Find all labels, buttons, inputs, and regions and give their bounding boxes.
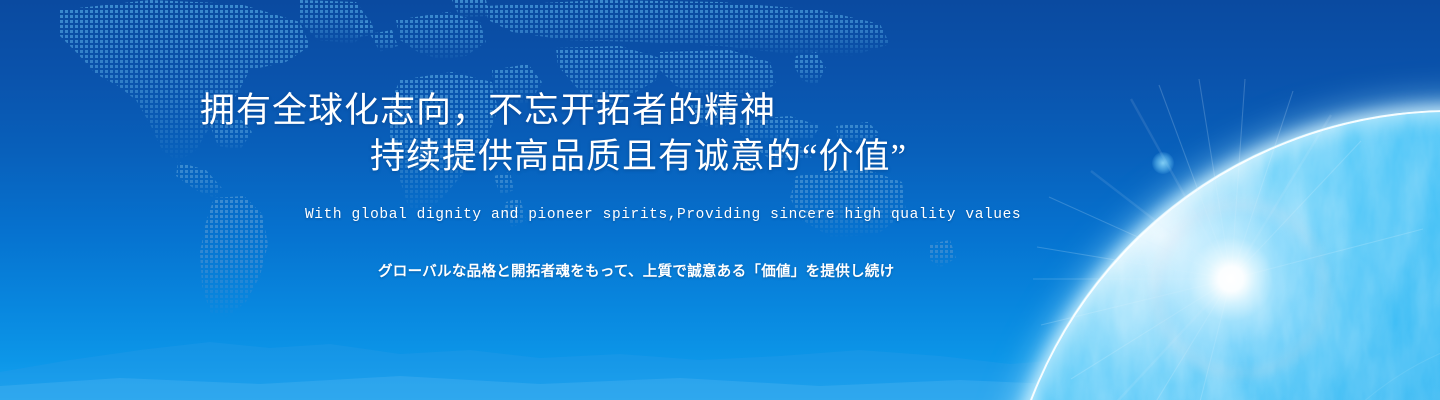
hero-copy: 拥有全球化志向，不忘开拓者的精神 持续提供高品质且有诚意的“价值” With g… — [0, 0, 1440, 400]
page-title: 拥有全球化志向，不忘开拓者的精神 持续提供高品质且有诚意的“价值” — [200, 88, 907, 180]
subtitle-japanese: グローバルな品格と開拓者魂をもって、上質で誠意ある「価値」を提供し続け — [378, 260, 894, 281]
headline-line-1: 拥有全球化志向，不忘开拓者的精神 — [200, 91, 776, 130]
headline-line-2: 持续提供高品质且有诚意的“价值” — [200, 134, 907, 180]
subtitle-english: With global dignity and pioneer spirits,… — [305, 207, 1021, 223]
hero-banner: 拥有全球化志向，不忘开拓者的精神 持续提供高品质且有诚意的“价值” With g… — [0, 0, 1440, 400]
